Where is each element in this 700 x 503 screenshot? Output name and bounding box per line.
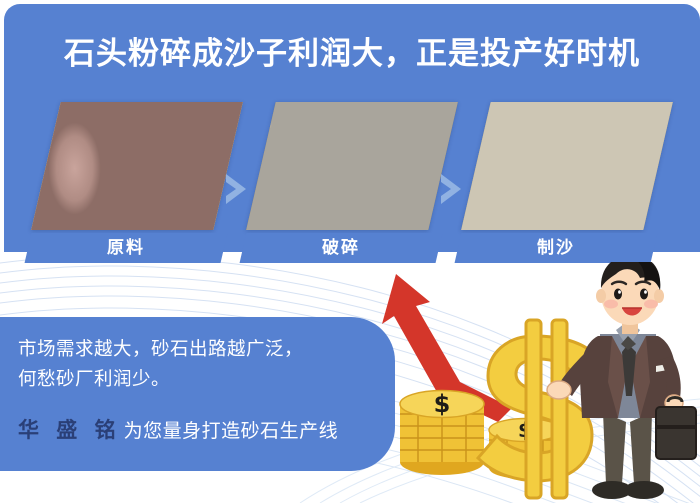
business-illustration: $ $ (360, 262, 700, 503)
river-pebbles-photo (31, 102, 243, 230)
brand-tagline-line: 华 盛 铭为您量身打造砂石生产线 (18, 416, 338, 446)
brand-name: 华 盛 铭 (18, 418, 121, 442)
step-label-text: 制沙 (458, 233, 654, 263)
promo-banner: 石头粉碎成沙子利润大，正是投产好时机 原料 破碎 (0, 0, 700, 503)
crushed-gravel-photo (246, 102, 458, 230)
step-label-text: 原料 (28, 233, 224, 263)
step-label-text: 破碎 (243, 233, 439, 263)
step-label-crushing: 破碎 (240, 233, 443, 263)
process-step-raw-material: 原料 (28, 100, 228, 265)
step-label-sand-making: 制沙 (455, 233, 658, 263)
briefcase-icon (656, 398, 696, 460)
process-step-sand-making: 制沙 (458, 100, 658, 265)
step-label-raw-material: 原料 (25, 233, 228, 263)
message-line-1: 市场需求越大，砂石出路越广泛， (18, 335, 303, 364)
page-title: 石头粉碎成沙子利润大，正是投产好时机 (4, 32, 700, 76)
message-panel: 市场需求越大，砂石出路越广泛， 何愁砂厂利润少。 华 盛 铭为您量身打造砂石生产… (0, 317, 395, 471)
message-line-2: 何愁砂厂利润少。 (18, 365, 170, 394)
manufactured-sand-photo (461, 102, 673, 230)
svg-text:$: $ (434, 390, 451, 418)
tagline-text: 为您量身打造砂石生产线 (124, 420, 339, 442)
process-flow: 原料 破碎 制沙 (0, 100, 700, 270)
process-step-crushing: 破碎 (243, 100, 443, 265)
